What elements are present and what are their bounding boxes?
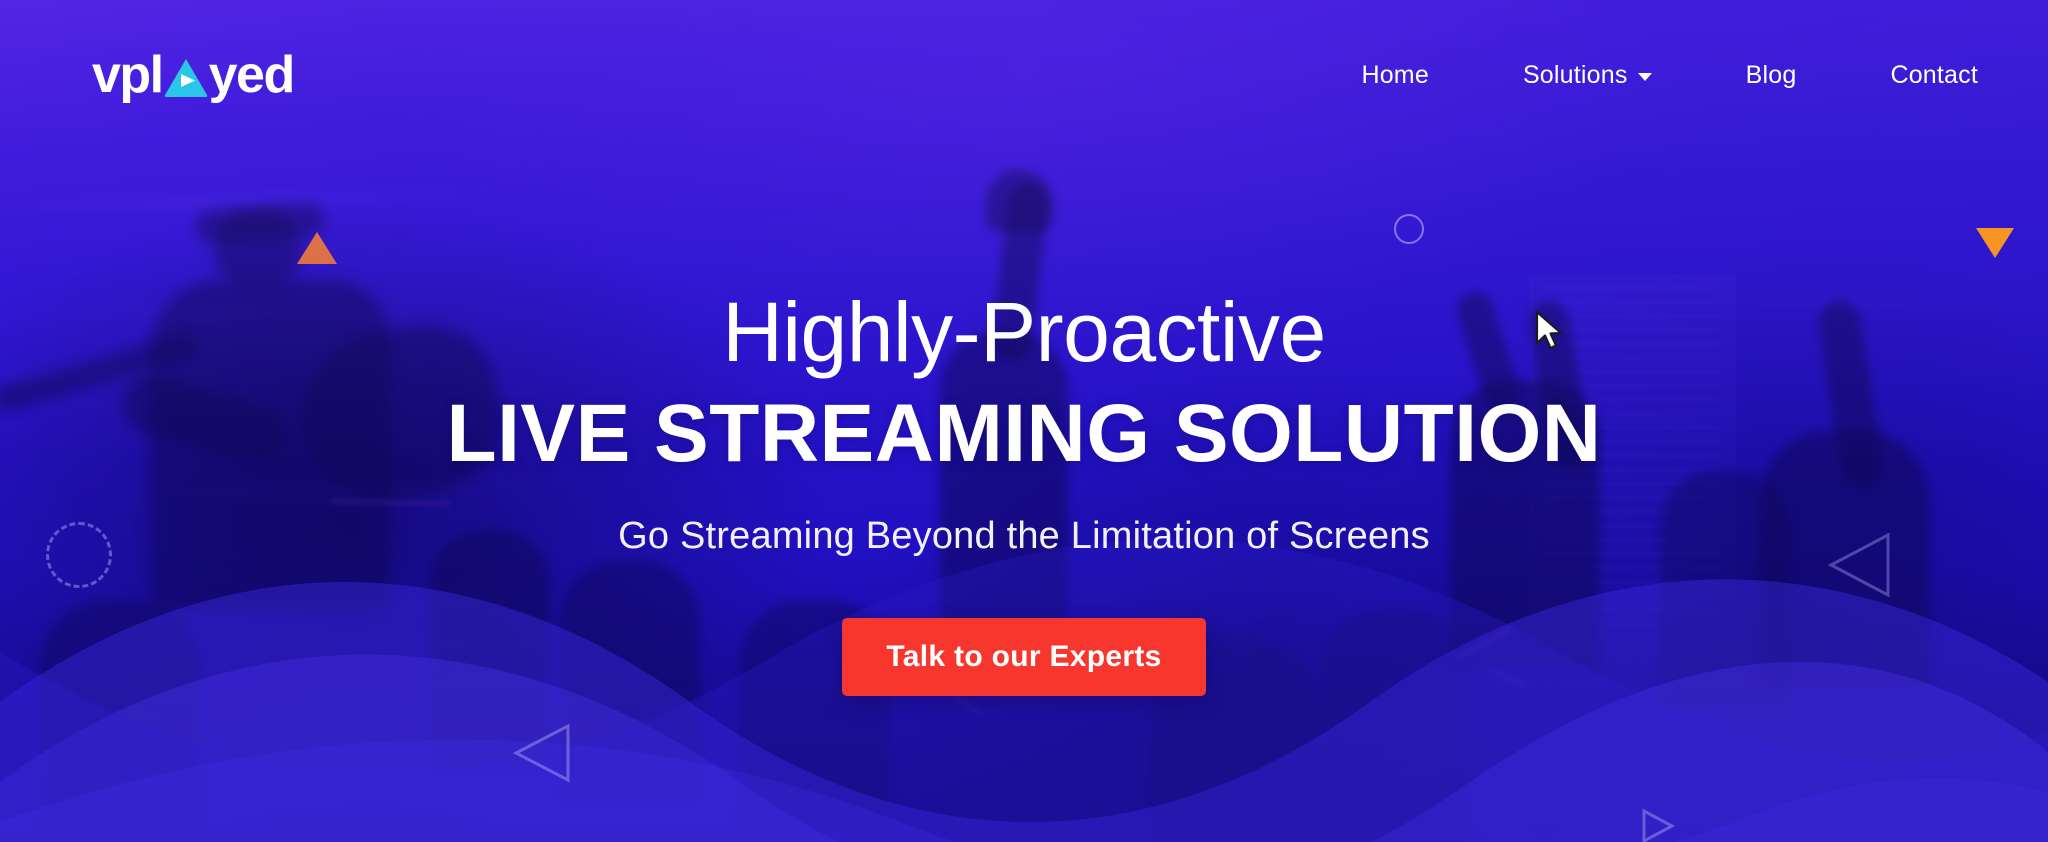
nav-item-solutions[interactable]: Solutions — [1523, 51, 1652, 100]
hero-content: Highly-Proactive LIVE STREAMING SOLUTION… — [0, 288, 2048, 696]
chevron-down-icon — [1638, 73, 1652, 81]
hero-subheadline: Go Streaming Beyond the Limitation of Sc… — [0, 515, 2048, 558]
nav-item-home[interactable]: Home — [1361, 51, 1429, 100]
nav-item-blog[interactable]: Blog — [1746, 51, 1797, 100]
hero-section: vpl yed Home Solutions Blog — [0, 0, 2048, 842]
logo-text-before: vpl — [92, 49, 163, 101]
nav-item-label: Home — [1361, 61, 1429, 90]
nav-item-label: Solutions — [1523, 61, 1628, 90]
nav-item-label: Blog — [1746, 61, 1797, 90]
nav-item-contact[interactable]: Contact — [1890, 51, 1978, 100]
main-navigation: Home Solutions Blog Contact — [1361, 51, 1978, 100]
talk-to-experts-button[interactable]: Talk to our Experts — [842, 618, 1205, 696]
logo-text-after: yed — [209, 49, 294, 101]
site-logo[interactable]: vpl yed — [92, 49, 294, 101]
hero-headline: LIVE STREAMING SOLUTION — [0, 390, 2048, 479]
nav-item-label: Contact — [1890, 61, 1978, 90]
play-triangle-icon — [164, 58, 208, 98]
hero-cta-wrapper: Talk to our Experts — [0, 618, 2048, 696]
hero-kicker: Highly-Proactive — [0, 288, 2048, 376]
top-navigation-bar: vpl yed Home Solutions Blog — [0, 0, 2048, 150]
logo-text: vpl yed — [92, 49, 294, 101]
